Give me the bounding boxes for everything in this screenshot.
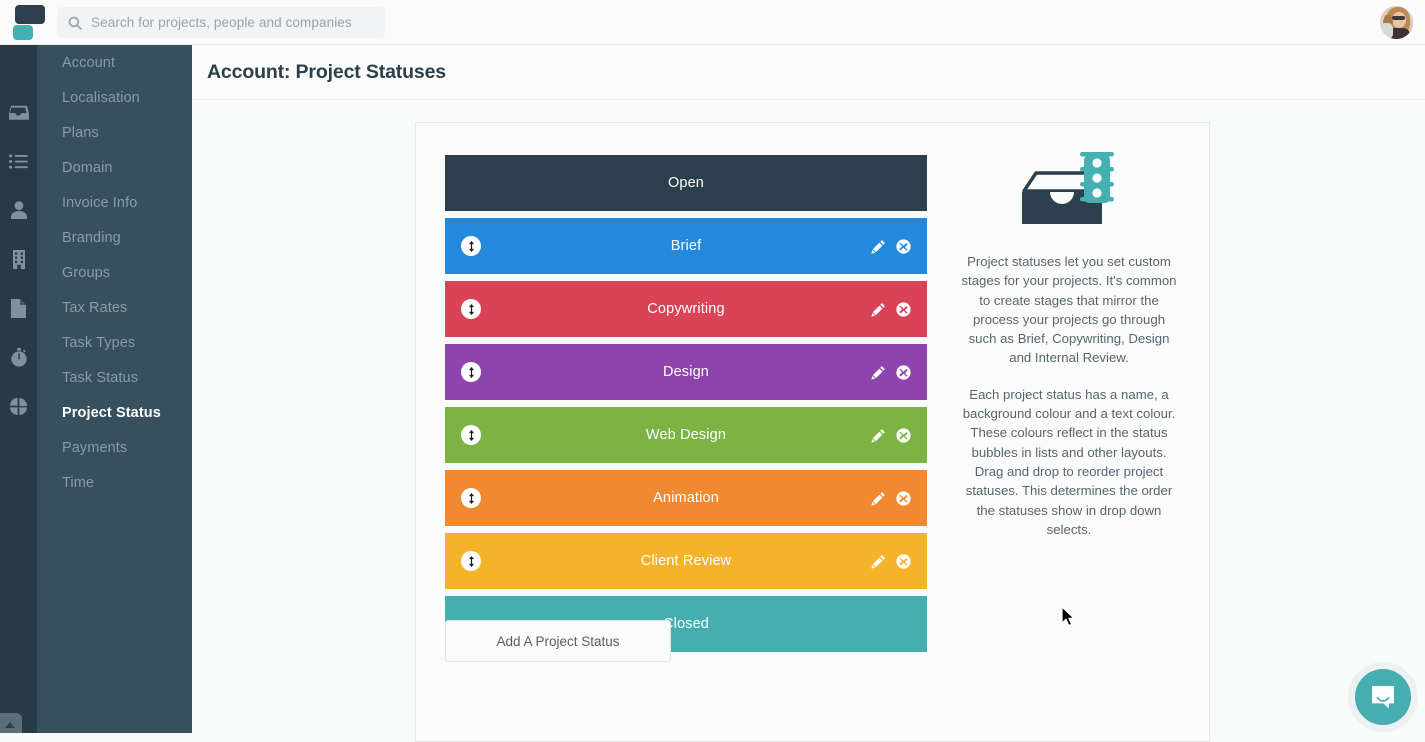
edit-status-button[interactable] bbox=[868, 362, 888, 382]
rail-icon-person[interactable] bbox=[0, 193, 37, 227]
sidebar-item-label: Payments bbox=[62, 440, 127, 456]
sidebar-item-label: Groups bbox=[62, 265, 110, 281]
avatar-face bbox=[1392, 12, 1406, 28]
sidebar-item-label: Project Status bbox=[62, 405, 161, 421]
page-header: Account: Project Statuses bbox=[192, 45, 1425, 100]
drag-handle[interactable] bbox=[461, 299, 481, 319]
row-actions bbox=[868, 299, 913, 319]
updown-arrows-icon bbox=[466, 367, 477, 378]
status-label: Client Review bbox=[641, 553, 732, 569]
delete-status-button[interactable] bbox=[893, 551, 913, 571]
edit-status-button[interactable] bbox=[868, 299, 888, 319]
sidebar-item-domain[interactable]: Domain bbox=[37, 150, 192, 185]
updown-arrows-icon bbox=[466, 556, 477, 567]
delete-status-button[interactable] bbox=[893, 362, 913, 382]
sidebar-item-invoice-info[interactable]: Invoice Info bbox=[37, 185, 192, 220]
status-row[interactable]: Brief bbox=[445, 218, 927, 274]
search-input[interactable]: Search for projects, people and companie… bbox=[57, 7, 385, 38]
sidebar-item-account[interactable]: Account bbox=[37, 45, 192, 80]
settings-sidebar: Account Localisation Plans Domain Invoic… bbox=[37, 45, 192, 733]
drag-handle[interactable] bbox=[461, 362, 481, 382]
status-row[interactable]: Animation bbox=[445, 470, 927, 526]
chevron-up-icon bbox=[5, 722, 15, 728]
building-icon bbox=[11, 250, 27, 269]
logo-bottom-shape bbox=[13, 25, 33, 40]
rail-icon-building[interactable] bbox=[0, 242, 37, 276]
project-status-list: Open Brief bbox=[445, 155, 927, 659]
pencil-icon bbox=[871, 365, 886, 380]
edit-status-button[interactable] bbox=[868, 425, 888, 445]
updown-arrows-icon bbox=[466, 493, 477, 504]
row-actions bbox=[868, 362, 913, 382]
pencil-icon bbox=[871, 428, 886, 443]
sidebar-item-branding[interactable]: Branding bbox=[37, 220, 192, 255]
sidebar-item-label: Tax Rates bbox=[62, 300, 127, 316]
close-circle-icon bbox=[896, 365, 911, 380]
delete-status-button[interactable] bbox=[893, 488, 913, 508]
help-paragraph-1: Project statuses let you set custom stag… bbox=[958, 252, 1180, 368]
status-label: Brief bbox=[671, 238, 702, 254]
drag-handle[interactable] bbox=[461, 551, 481, 571]
rail-icon-list[interactable] bbox=[0, 144, 37, 178]
sidebar-item-localisation[interactable]: Localisation bbox=[37, 80, 192, 115]
sidebar-item-payments[interactable]: Payments bbox=[37, 430, 192, 465]
sidebar-item-label: Plans bbox=[62, 125, 99, 141]
status-label: Animation bbox=[653, 490, 719, 506]
avatar-arm bbox=[1380, 23, 1393, 39]
row-actions bbox=[868, 551, 913, 571]
rail-icon-pie-chart[interactable] bbox=[0, 389, 37, 423]
sidebar-item-label: Account bbox=[62, 55, 115, 71]
add-project-status-button[interactable]: Add A Project Status bbox=[445, 620, 671, 662]
add-project-status-label: Add A Project Status bbox=[496, 634, 619, 649]
close-circle-icon bbox=[896, 554, 911, 569]
pencil-icon bbox=[871, 302, 886, 317]
delete-status-button[interactable] bbox=[893, 299, 913, 319]
status-row[interactable]: Copywriting bbox=[445, 281, 927, 337]
sidebar-item-task-types[interactable]: Task Types bbox=[37, 325, 192, 360]
pencil-icon bbox=[871, 239, 886, 254]
list-icon bbox=[9, 154, 28, 169]
drag-handle[interactable] bbox=[461, 425, 481, 445]
status-row[interactable]: Web Design bbox=[445, 407, 927, 463]
sidebar-item-label: Domain bbox=[62, 160, 113, 176]
status-label: Copywriting bbox=[647, 301, 724, 317]
page-title: Account: Project Statuses bbox=[207, 61, 446, 84]
collapse-sidebar-tab[interactable] bbox=[0, 713, 22, 733]
intercom-chat-launcher[interactable] bbox=[1355, 669, 1411, 725]
rail-icon-document[interactable] bbox=[0, 291, 37, 325]
stopwatch-icon bbox=[11, 348, 27, 367]
logo-top-shape bbox=[15, 5, 45, 24]
status-label: Web Design bbox=[646, 427, 726, 443]
edit-status-button[interactable] bbox=[868, 551, 888, 571]
avatar-glasses bbox=[1392, 16, 1405, 20]
drag-handle[interactable] bbox=[461, 488, 481, 508]
rail-icon-inbox[interactable] bbox=[0, 95, 37, 129]
sidebar-item-label: Branding bbox=[62, 230, 121, 246]
pencil-icon bbox=[871, 491, 886, 506]
chat-bubble-icon bbox=[1369, 683, 1397, 711]
project-statuses-card: Open Brief bbox=[415, 122, 1210, 742]
close-circle-icon bbox=[896, 491, 911, 506]
rail-icon-stopwatch[interactable] bbox=[0, 340, 37, 374]
status-label: Open bbox=[668, 175, 704, 191]
document-icon bbox=[11, 299, 26, 318]
page-body: Open Brief bbox=[192, 100, 1425, 733]
row-actions bbox=[868, 488, 913, 508]
help-panel: Project statuses let you set custom stag… bbox=[958, 148, 1180, 556]
edit-status-button[interactable] bbox=[868, 488, 888, 508]
help-paragraph-2: Each project status has a name, a backgr… bbox=[958, 385, 1180, 539]
status-row[interactable]: Design bbox=[445, 344, 927, 400]
row-actions bbox=[868, 425, 913, 445]
app-logo[interactable] bbox=[13, 4, 49, 40]
delete-status-button[interactable] bbox=[893, 425, 913, 445]
sidebar-item-tax-rates[interactable]: Tax Rates bbox=[37, 290, 192, 325]
sidebar-item-project-status[interactable]: Project Status bbox=[37, 395, 192, 430]
sidebar-item-plans[interactable]: Plans bbox=[37, 115, 192, 150]
pie-chart-icon bbox=[10, 398, 27, 415]
icon-rail bbox=[0, 45, 37, 733]
status-label: Design bbox=[663, 364, 709, 380]
sidebar-item-label: Task Types bbox=[62, 335, 135, 351]
delete-status-button[interactable] bbox=[893, 236, 913, 256]
row-actions bbox=[868, 236, 913, 256]
close-circle-icon bbox=[896, 239, 911, 254]
updown-arrows-icon bbox=[466, 241, 477, 252]
sidebar-item-label: Invoice Info bbox=[62, 195, 137, 211]
close-circle-icon bbox=[896, 302, 911, 317]
search-icon bbox=[68, 16, 82, 30]
inbox-traffic-light-illustration bbox=[1010, 148, 1128, 236]
search-placeholder: Search for projects, people and companie… bbox=[91, 15, 352, 30]
sidebar-item-time[interactable]: Time bbox=[37, 465, 192, 500]
sidebar-item-groups[interactable]: Groups bbox=[37, 255, 192, 290]
updown-arrows-icon bbox=[466, 430, 477, 441]
pencil-icon bbox=[871, 554, 886, 569]
sidebar-item-task-status[interactable]: Task Status bbox=[37, 360, 192, 395]
drag-handle[interactable] bbox=[461, 236, 481, 256]
sidebar-item-label: Task Status bbox=[62, 370, 138, 386]
status-row[interactable]: Client Review bbox=[445, 533, 927, 589]
edit-status-button[interactable] bbox=[868, 236, 888, 256]
avatar[interactable] bbox=[1380, 6, 1413, 39]
updown-arrows-icon bbox=[466, 304, 477, 315]
person-icon bbox=[11, 201, 27, 219]
sidebar-item-label: Localisation bbox=[62, 90, 140, 106]
status-row[interactable]: Open bbox=[445, 155, 927, 211]
sidebar-item-label: Time bbox=[62, 475, 94, 491]
top-bar: Search for projects, people and companie… bbox=[0, 0, 1425, 45]
inbox-icon bbox=[9, 104, 29, 121]
close-circle-icon bbox=[896, 428, 911, 443]
